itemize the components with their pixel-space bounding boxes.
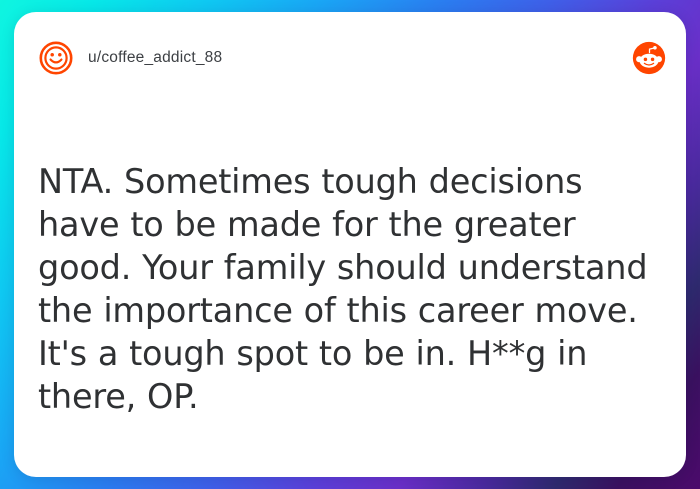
avatar[interactable] bbox=[38, 40, 74, 76]
comment-text: NTA. Sometimes tough decisions have to b… bbox=[38, 160, 662, 418]
username-label: u/coffee_addict_88 bbox=[88, 49, 222, 67]
reddit-snoo-icon bbox=[632, 41, 666, 75]
comment-card-header: u/coffee_addict_88 bbox=[14, 12, 686, 104]
reddit-comment-card: u/coffee_addict_88 bbox=[14, 12, 686, 477]
smiley-face-avatar-icon bbox=[38, 40, 74, 76]
reddit-logo[interactable] bbox=[632, 41, 666, 75]
screenshot-stage: u/coffee_addict_88 bbox=[0, 0, 700, 489]
